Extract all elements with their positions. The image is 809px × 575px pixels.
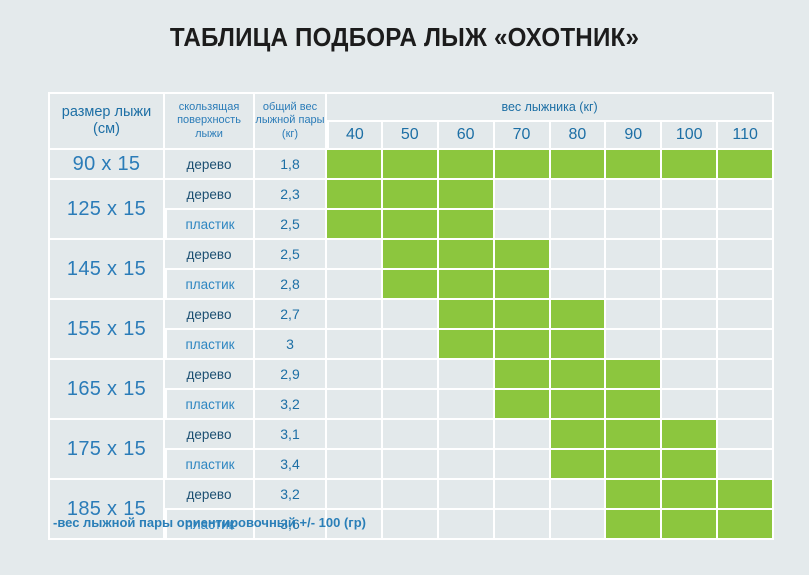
cell-weight-empty-40: [327, 240, 383, 270]
cell-weight-empty-50: [383, 330, 439, 360]
cell-ski-size: 145 x 15: [48, 240, 165, 300]
cell-weight-empty-40: [327, 330, 383, 360]
cell-weight-empty-60: [439, 510, 495, 540]
cell-total-mass: 2,5: [255, 210, 327, 240]
cell-weight-match-70: [495, 330, 551, 360]
cell-gliding-surface: дерево: [165, 300, 255, 330]
header-weight-60: 60: [439, 122, 495, 150]
cell-ski-size: 155 x 15: [48, 300, 165, 360]
cell-weight-empty-80: [551, 240, 607, 270]
cell-weight-match-110: [718, 150, 774, 180]
cell-weight-empty-50: [383, 300, 439, 330]
cell-weight-empty-40: [327, 390, 383, 420]
cell-weight-empty-110: [718, 270, 774, 300]
cell-weight-empty-90: [606, 210, 662, 240]
cell-weight-empty-40: [327, 420, 383, 450]
ski-selection-table-container: размер лыжи (см) скользящая поверхность …: [48, 92, 774, 540]
header-gliding-surface-line3: лыжи: [195, 128, 223, 140]
cell-weight-match-50: [383, 150, 439, 180]
cell-weight-empty-70: [495, 180, 551, 210]
cell-weight-empty-50: [383, 510, 439, 540]
cell-ski-size: 175 x 15: [48, 420, 165, 480]
cell-weight-empty-90: [606, 180, 662, 210]
header-ski-size-line2: (см): [93, 121, 120, 137]
cell-weight-empty-100: [662, 270, 718, 300]
cell-weight-empty-40: [327, 480, 383, 510]
table-header: размер лыжи (см) скользящая поверхность …: [48, 92, 774, 150]
cell-weight-match-90: [606, 150, 662, 180]
cell-total-mass: 1,8: [255, 150, 327, 180]
cell-gliding-surface: дерево: [165, 180, 255, 210]
cell-weight-match-70: [495, 390, 551, 420]
ski-selection-table: размер лыжи (см) скользящая поверхность …: [48, 92, 774, 540]
cell-weight-match-40: [327, 150, 383, 180]
cell-weight-match-70: [495, 300, 551, 330]
header-ski-size-line1: размер лыжи: [62, 104, 151, 120]
cell-weight-empty-100: [662, 210, 718, 240]
header-weight-50: 50: [383, 122, 439, 150]
cell-weight-empty-100: [662, 300, 718, 330]
cell-weight-empty-100: [662, 330, 718, 360]
cell-weight-empty-110: [718, 450, 774, 480]
cell-weight-empty-60: [439, 420, 495, 450]
cell-gliding-surface: пластик: [165, 270, 255, 300]
cell-weight-match-90: [606, 360, 662, 390]
cell-gliding-surface: пластик: [165, 210, 255, 240]
table-row: 175 x 15дерево3,1: [48, 420, 774, 450]
cell-weight-match-60: [439, 270, 495, 300]
cell-weight-empty-70: [495, 210, 551, 240]
cell-weight-match-100: [662, 480, 718, 510]
cell-gliding-surface: пластик: [165, 330, 255, 360]
cell-ski-size: 165 x 15: [48, 360, 165, 420]
table-row: 125 x 15дерево2,3: [48, 180, 774, 210]
cell-weight-empty-80: [551, 270, 607, 300]
cell-weight-empty-110: [718, 240, 774, 270]
table-row: 155 x 15дерево2,7: [48, 300, 774, 330]
cell-total-mass: 3,1: [255, 420, 327, 450]
cell-weight-match-80: [551, 150, 607, 180]
cell-weight-match-100: [662, 450, 718, 480]
cell-weight-empty-70: [495, 420, 551, 450]
cell-weight-empty-90: [606, 330, 662, 360]
table-body: 90 x 15дерево1,8125 x 15дерево2,3пластик…: [48, 150, 774, 540]
cell-weight-empty-80: [551, 180, 607, 210]
cell-weight-empty-80: [551, 480, 607, 510]
cell-weight-match-40: [327, 180, 383, 210]
cell-weight-empty-110: [718, 360, 774, 390]
cell-weight-empty-110: [718, 390, 774, 420]
cell-weight-match-60: [439, 180, 495, 210]
cell-weight-match-70: [495, 270, 551, 300]
cell-weight-match-100: [662, 420, 718, 450]
header-row-top: размер лыжи (см) скользящая поверхность …: [48, 92, 774, 122]
cell-weight-match-100: [662, 510, 718, 540]
header-total-mass-line1: общий вес: [263, 101, 317, 113]
cell-weight-empty-50: [383, 450, 439, 480]
cell-weight-match-90: [606, 480, 662, 510]
header-skier-weight: вес лыжника (кг): [327, 92, 774, 122]
header-weight-90: 90: [606, 122, 662, 150]
cell-gliding-surface: пластик: [165, 450, 255, 480]
cell-total-mass: 3,2: [255, 390, 327, 420]
header-total-mass-line3: (кг): [282, 128, 298, 140]
cell-weight-match-70: [495, 150, 551, 180]
cell-total-mass: 2,8: [255, 270, 327, 300]
page-title: ТАБЛИЦА ПОДБОРА ЛЫЖ «ОХОТНИК»: [28, 22, 780, 53]
cell-weight-empty-110: [718, 210, 774, 240]
cell-weight-match-80: [551, 390, 607, 420]
header-ski-size: размер лыжи (см): [48, 92, 165, 150]
cell-weight-empty-50: [383, 420, 439, 450]
header-total-mass-line2: лыжной пары: [255, 114, 324, 126]
header-gliding-surface-line1: скользящая: [179, 101, 240, 113]
cell-weight-match-90: [606, 420, 662, 450]
cell-gliding-surface: дерево: [165, 150, 255, 180]
cell-weight-empty-100: [662, 240, 718, 270]
cell-gliding-surface: пластик: [165, 390, 255, 420]
header-weight-100: 100: [662, 122, 718, 150]
header-weight-70: 70: [495, 122, 551, 150]
cell-weight-empty-100: [662, 360, 718, 390]
cell-weight-match-50: [383, 270, 439, 300]
table-row: 165 x 15дерево2,9: [48, 360, 774, 390]
header-weight-110: 110: [718, 122, 774, 150]
cell-weight-match-60: [439, 300, 495, 330]
cell-weight-empty-80: [551, 210, 607, 240]
cell-weight-empty-40: [327, 270, 383, 300]
cell-weight-empty-40: [327, 300, 383, 330]
cell-weight-empty-70: [495, 450, 551, 480]
cell-weight-empty-50: [383, 480, 439, 510]
cell-weight-empty-60: [439, 450, 495, 480]
cell-total-mass: 3,4: [255, 450, 327, 480]
cell-gliding-surface: дерево: [165, 360, 255, 390]
cell-weight-empty-40: [327, 360, 383, 390]
cell-weight-empty-70: [495, 510, 551, 540]
cell-weight-match-110: [718, 510, 774, 540]
table-row: 90 x 15дерево1,8: [48, 150, 774, 180]
header-weight-80: 80: [551, 122, 607, 150]
cell-total-mass: 2,9: [255, 360, 327, 390]
header-gliding-surface: скользящая поверхность лыжи: [165, 92, 255, 150]
table-row: 185 x 15дерево3,2: [48, 480, 774, 510]
cell-weight-empty-60: [439, 480, 495, 510]
cell-weight-match-50: [383, 240, 439, 270]
cell-weight-match-110: [718, 480, 774, 510]
cell-weight-empty-60: [439, 360, 495, 390]
cell-total-mass: 3: [255, 330, 327, 360]
cell-weight-empty-110: [718, 180, 774, 210]
cell-weight-empty-100: [662, 180, 718, 210]
cell-weight-match-70: [495, 360, 551, 390]
cell-ski-size: 90 x 15: [48, 150, 165, 180]
cell-gliding-surface: дерево: [165, 420, 255, 450]
cell-weight-match-90: [606, 510, 662, 540]
cell-weight-empty-70: [495, 480, 551, 510]
cell-weight-match-100: [662, 150, 718, 180]
cell-weight-empty-40: [327, 450, 383, 480]
cell-weight-match-60: [439, 240, 495, 270]
cell-weight-empty-90: [606, 300, 662, 330]
cell-weight-match-50: [383, 210, 439, 240]
cell-weight-match-80: [551, 420, 607, 450]
cell-weight-empty-100: [662, 390, 718, 420]
cell-weight-empty-50: [383, 360, 439, 390]
header-weight-40: 40: [327, 122, 383, 150]
cell-total-mass: 2,7: [255, 300, 327, 330]
cell-ski-size: 125 x 15: [48, 180, 165, 240]
table-row: 145 x 15дерево2,5: [48, 240, 774, 270]
cell-total-mass: 2,5: [255, 240, 327, 270]
cell-gliding-surface: дерево: [165, 240, 255, 270]
cell-weight-empty-110: [718, 300, 774, 330]
cell-weight-match-50: [383, 180, 439, 210]
cell-weight-match-60: [439, 210, 495, 240]
page-root: ТАБЛИЦА ПОДБОРА ЛЫЖ «ОХОТНИК» размер лы: [0, 0, 809, 575]
header-gliding-surface-line2: поверхность: [177, 114, 241, 126]
cell-weight-empty-110: [718, 420, 774, 450]
cell-weight-match-60: [439, 330, 495, 360]
cell-weight-empty-50: [383, 390, 439, 420]
cell-total-mass: 3,2: [255, 480, 327, 510]
cell-ski-size: 185 x 15: [48, 480, 165, 540]
cell-weight-match-90: [606, 390, 662, 420]
cell-weight-match-80: [551, 330, 607, 360]
footnote: -вес лыжной пары ориентировочный +/- 100…: [53, 515, 366, 530]
cell-weight-empty-90: [606, 240, 662, 270]
header-total-mass: общий вес лыжной пары (кг): [255, 92, 327, 150]
cell-weight-empty-60: [439, 390, 495, 420]
cell-weight-match-70: [495, 240, 551, 270]
cell-weight-match-80: [551, 360, 607, 390]
cell-weight-empty-110: [718, 330, 774, 360]
cell-weight-empty-90: [606, 270, 662, 300]
cell-weight-match-60: [439, 150, 495, 180]
cell-weight-match-90: [606, 450, 662, 480]
cell-gliding-surface: дерево: [165, 480, 255, 510]
cell-weight-empty-80: [551, 510, 607, 540]
cell-weight-match-40: [327, 210, 383, 240]
cell-total-mass: 2,3: [255, 180, 327, 210]
cell-weight-match-80: [551, 450, 607, 480]
cell-weight-match-80: [551, 300, 607, 330]
